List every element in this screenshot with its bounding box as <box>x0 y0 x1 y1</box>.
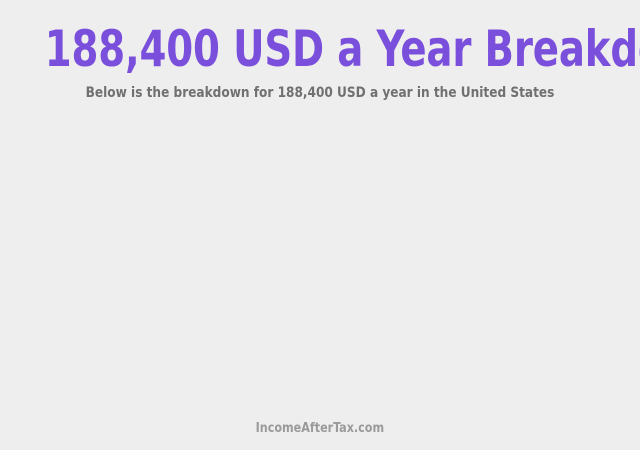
page-subtitle: Below is the breakdown for 188,400 USD a… <box>22 85 617 102</box>
footer-site-credit: IncomeAfterTax.com <box>256 420 385 436</box>
page-title: 188,400 USD a Year Breakdown <box>45 22 595 76</box>
footer: IncomeAfterTax.com <box>0 419 640 437</box>
chart-area <box>0 120 640 410</box>
page-root: 188,400 USD a Year Breakdown Below is th… <box>0 0 640 450</box>
chart-canvas <box>0 120 640 410</box>
